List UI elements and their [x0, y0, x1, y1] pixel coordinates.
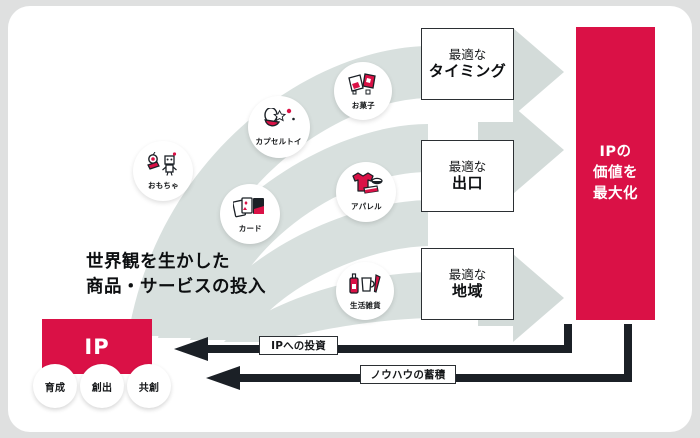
outcome-line-1: 最適な — [449, 47, 487, 63]
result-line-1: IPの — [593, 142, 638, 163]
product-label: カード — [238, 223, 261, 233]
trading-card-icon — [233, 195, 267, 222]
feedback-tag-label: ノウハウの蓄積 — [371, 367, 446, 382]
household-goods-icon — [348, 272, 382, 299]
feedback-tag-knowhow[interactable]: ノウハウの蓄積 — [360, 365, 456, 384]
snack-package-icon — [347, 72, 379, 99]
ip-sub-circle-soushutsu[interactable]: 創出 — [80, 364, 124, 408]
ip-label: IP — [84, 335, 109, 359]
result-line-2: 価値を — [593, 163, 638, 184]
outcome-line-2: 地域 — [452, 282, 483, 301]
tshirt-icon — [349, 172, 383, 200]
product-label: カプセルトイ — [256, 136, 302, 146]
product-bubble-card[interactable]: カード — [220, 184, 280, 244]
title-line-1: 世界観を生かした — [86, 250, 326, 275]
page-title: 世界観を生かした 商品・サービスの投入 — [86, 250, 326, 301]
ip-sub-label: 創出 — [92, 379, 113, 394]
feedback-tag-label: IPへの投資 — [271, 338, 326, 353]
result-panel-text: IPの 価値を 最大化 — [593, 142, 638, 205]
outcome-box-outlet[interactable]: 最適な 出口 — [421, 140, 514, 212]
feedback-tag-investment[interactable]: IPへの投資 — [259, 336, 338, 355]
product-label: おもちゃ — [148, 180, 179, 190]
product-label: 生活雑貨 — [350, 300, 381, 310]
diagram-card: おもちゃ カプセルトイ — [8, 6, 692, 432]
outcome-line-1: 最適な — [449, 159, 487, 175]
outcome-line-1: 最適な — [449, 267, 487, 283]
product-bubble-toy[interactable]: おもちゃ — [133, 141, 193, 201]
ip-sub-circle-kyousou[interactable]: 共創 — [127, 364, 171, 408]
product-label: お菓子 — [351, 100, 374, 110]
ip-sub-label: 共創 — [139, 379, 160, 394]
title-line-2: 商品・サービスの投入 — [86, 275, 326, 300]
investment-arrow-head — [174, 337, 208, 361]
product-bubble-snack[interactable]: お菓子 — [334, 62, 392, 120]
ip-sub-circle-ikusei[interactable]: 育成 — [33, 364, 77, 408]
diagram-canvas: おもちゃ カプセルトイ — [0, 0, 700, 438]
outcome-box-region[interactable]: 最適な 地域 — [421, 248, 514, 320]
knowhow-arrow-head — [206, 366, 240, 390]
product-bubble-capsule[interactable]: カプセルトイ — [248, 96, 310, 158]
outcome-line-2: 出口 — [452, 174, 483, 193]
result-line-3: 最大化 — [593, 184, 638, 205]
ip-sub-label: 育成 — [45, 379, 66, 394]
product-bubble-apparel[interactable]: アパレル — [336, 162, 396, 222]
toy-robot-icon — [146, 152, 180, 179]
outcome-line-2: タイミング — [429, 62, 507, 81]
outcome-box-timing[interactable]: 最適な タイミング — [421, 28, 514, 100]
capsule-toy-icon — [262, 108, 296, 135]
result-panel: IPの 価値を 最大化 — [576, 27, 655, 320]
product-bubble-goods[interactable]: 生活雑貨 — [336, 262, 394, 320]
product-label: アパレル — [351, 201, 382, 211]
